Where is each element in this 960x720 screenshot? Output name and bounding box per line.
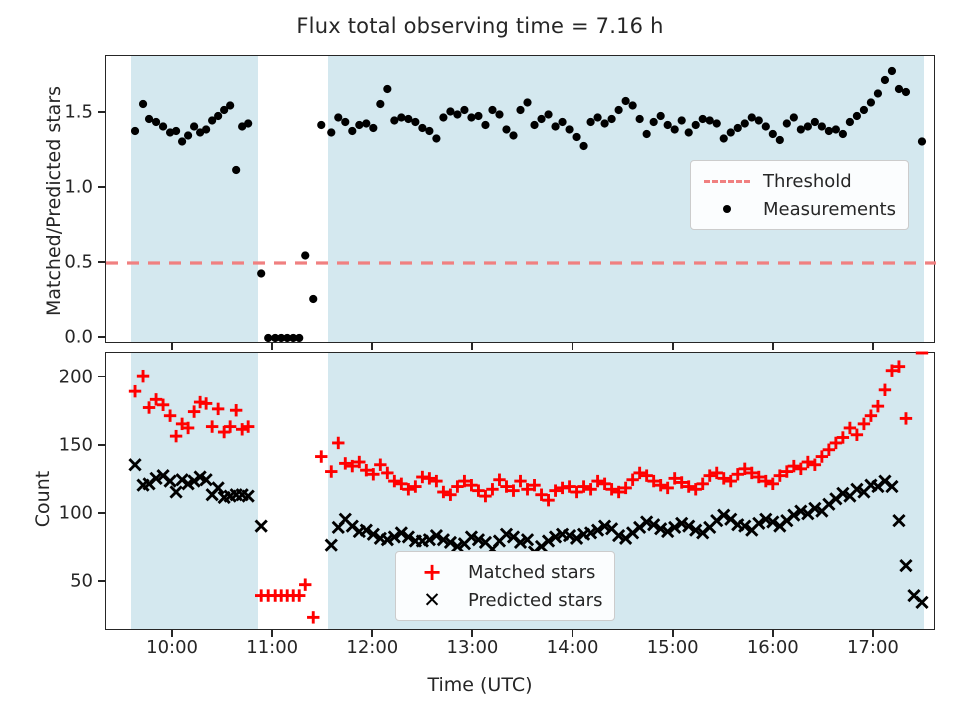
- xtick-label: 13:00: [447, 637, 499, 658]
- xtick-mark: [872, 630, 874, 637]
- xtick-mark: [471, 343, 473, 350]
- dashed-line-icon: [699, 180, 755, 183]
- xtick-label: 16:00: [747, 637, 799, 658]
- legend-item-threshold[interactable]: Threshold: [699, 167, 896, 195]
- cross-marker-icon: ✕: [404, 590, 460, 611]
- xtick-label: 12:00: [346, 637, 398, 658]
- bottom-panel-legend[interactable]: + Matched stars ✕ Predicted stars: [395, 551, 615, 621]
- xtick-mark: [471, 630, 473, 637]
- ytick-mark: [98, 261, 105, 263]
- ytick-mark: [98, 444, 105, 446]
- figure-canvas: Flux total observing time = 7.16 h 0.00.…: [0, 0, 960, 720]
- xtick-mark: [171, 630, 173, 637]
- ytick-mark: [98, 580, 105, 582]
- xtick-mark: [371, 343, 373, 350]
- plus-marker-icon: +: [404, 560, 460, 584]
- xtick-mark: [171, 343, 173, 350]
- xtick-mark: [772, 343, 774, 350]
- xtick-mark: [371, 630, 373, 637]
- xtick-mark: [672, 343, 674, 350]
- xtick-mark: [672, 630, 674, 637]
- x-axis-label: Time (UTC): [0, 674, 960, 696]
- top-panel-ylabel: Matched/Predicted stars: [43, 51, 65, 351]
- legend-label-predicted-stars: Predicted stars: [460, 590, 602, 611]
- legend-label-matched-stars: Matched stars: [460, 562, 595, 583]
- xtick-mark: [772, 630, 774, 637]
- top-panel-legend[interactable]: Threshold Measurements: [690, 160, 909, 230]
- xtick-mark: [872, 343, 874, 350]
- dot-marker-icon: [699, 205, 755, 213]
- legend-label-measurements: Measurements: [755, 199, 896, 220]
- figure-title: Flux total observing time = 7.16 h: [0, 14, 960, 38]
- ytick-mark: [98, 111, 105, 113]
- xtick-label: 14:00: [547, 637, 599, 658]
- ytick-mark: [98, 336, 105, 338]
- ytick-mark: [98, 186, 105, 188]
- xtick-mark: [572, 343, 574, 350]
- xtick-mark: [271, 630, 273, 637]
- bottom-panel-ylabel: Count: [32, 414, 54, 584]
- legend-item-matched-stars[interactable]: + Matched stars: [404, 558, 602, 586]
- xtick-label: 11:00: [246, 637, 298, 658]
- xtick-mark: [271, 343, 273, 350]
- xtick-label: 10:00: [146, 637, 198, 658]
- xtick-mark: [572, 630, 574, 637]
- legend-item-predicted-stars[interactable]: ✕ Predicted stars: [404, 586, 602, 614]
- legend-item-measurements[interactable]: Measurements: [699, 195, 896, 223]
- ytick-mark: [98, 376, 105, 378]
- xtick-label: 17:00: [847, 637, 899, 658]
- ytick-label: 200: [0, 366, 93, 387]
- legend-label-threshold: Threshold: [755, 171, 852, 192]
- xtick-label: 15:00: [647, 637, 699, 658]
- ytick-mark: [98, 512, 105, 514]
